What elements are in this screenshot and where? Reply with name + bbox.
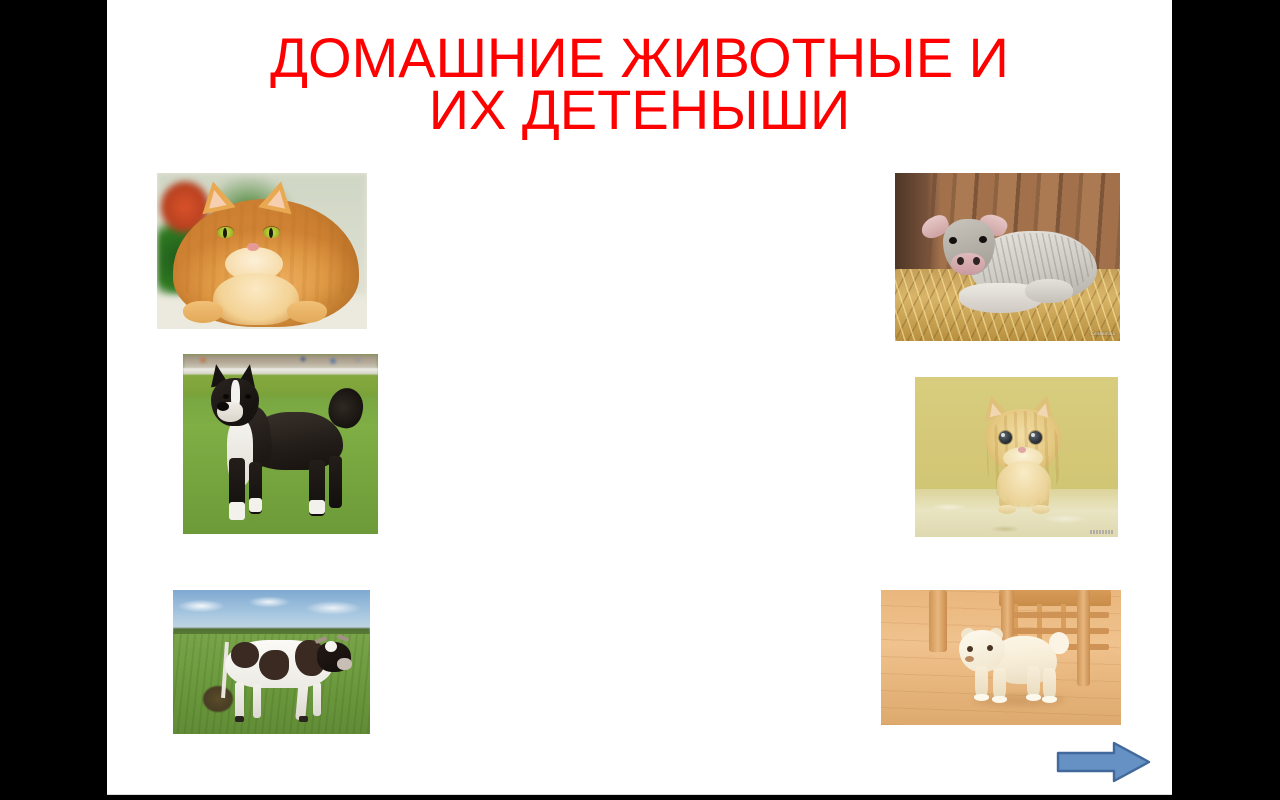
puppy-paw-d	[1042, 696, 1057, 703]
cow-bush	[203, 686, 233, 712]
slide-title: ДОМАШНИЕ ЖИВОТНЫЕ И ИХ ДЕТЕНЫШИ	[137, 32, 1142, 136]
right-arrow-icon[interactable]	[1056, 740, 1151, 784]
kitten-eye-highlight-right	[1031, 433, 1035, 437]
cow-leg-back-left	[313, 682, 321, 716]
cat-ear-inner-right	[267, 188, 288, 208]
cow-leg-front-left	[235, 682, 244, 720]
cat-chest	[213, 273, 299, 325]
cat-pupil-right	[269, 228, 273, 238]
next-slide-arrow-button[interactable]	[1056, 740, 1151, 784]
cow-muzzle	[337, 658, 352, 670]
letterbox-bar-left	[0, 0, 107, 800]
dog-leg-back-right	[329, 456, 342, 508]
adult-dog-photo[interactable]	[183, 354, 378, 534]
dog-sock-b	[249, 498, 262, 512]
kitten-photo-watermark	[1090, 530, 1114, 534]
baby-kitten-photo[interactable]	[915, 377, 1118, 537]
dog-eye-right	[245, 394, 251, 399]
kitten-paw-right	[1032, 505, 1050, 514]
puppy-chair-leg-right	[1077, 590, 1090, 686]
baby-calf-photo[interactable]: Селяночка	[895, 173, 1120, 341]
cow-hoof-c	[299, 716, 308, 722]
calf-photo-watermark: Селяночка	[1091, 332, 1115, 337]
cow-patch-2	[259, 650, 289, 680]
kitten-chest	[997, 461, 1051, 507]
cat-nose	[247, 243, 259, 251]
adult-cat-photo[interactable]	[157, 173, 367, 329]
kitten-nose	[1018, 447, 1026, 453]
puppy-nose	[965, 656, 974, 662]
baby-puppy-photo[interactable]	[881, 590, 1121, 725]
puppy-chair-rung-1	[1003, 612, 1109, 618]
cow-patch-1	[231, 642, 259, 668]
puppy-eye-right	[987, 645, 993, 651]
kitten-eye-highlight-left	[1001, 433, 1005, 437]
dog-sock-c	[309, 500, 325, 514]
cow-leg-front-right	[253, 684, 261, 718]
slide-canvas: ДОМАШНИЕ ЖИВОТНЫЕ И ИХ ДЕТЕНЫШИ	[107, 0, 1172, 795]
puppy-paw-a	[974, 694, 989, 701]
calf-muzzle	[951, 253, 985, 275]
presentation-screen: ДОМАШНИЕ ЖИВОТНЫЕ И ИХ ДЕТЕНЫШИ	[0, 0, 1280, 800]
calf-nostril-right	[973, 257, 980, 265]
calf-nostril-left	[957, 257, 964, 265]
calf-back-legs	[1025, 279, 1073, 303]
puppy-paw-b	[992, 696, 1007, 703]
letterbox-bar-right	[1172, 0, 1280, 800]
calf-eye-left	[949, 237, 957, 244]
puppy-eye-left	[967, 646, 973, 652]
puppy-paw-c	[1026, 694, 1041, 701]
slide-bottom-divider	[107, 794, 1172, 795]
cow-clouds	[173, 594, 370, 624]
dog-eye-left	[223, 394, 229, 399]
calf-eye-right	[979, 236, 987, 243]
cat-pupil-left	[223, 228, 227, 238]
cat-paw-right	[287, 301, 327, 323]
adult-cow-photo[interactable]	[173, 590, 370, 734]
cow-hoof-a	[235, 716, 244, 722]
cow-face-marking	[325, 641, 337, 652]
dog-sock-a	[229, 502, 245, 520]
cat-paw-left	[183, 301, 223, 323]
puppy-table-leg	[929, 590, 947, 652]
dog-nose	[217, 402, 229, 411]
kitten-paw-left	[998, 505, 1016, 514]
